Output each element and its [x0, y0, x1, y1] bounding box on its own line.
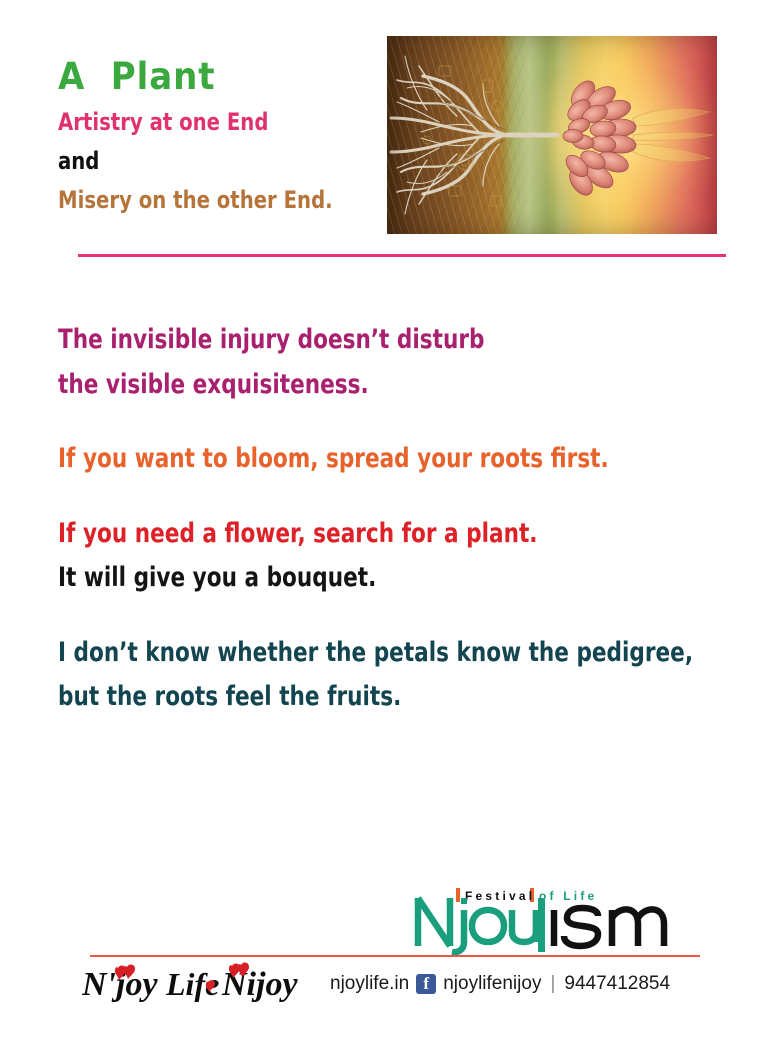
- logo-bar-left: [456, 888, 460, 902]
- poem-stanza: If you want to bloom, spread your roots …: [58, 437, 738, 482]
- subtitle-artistry: Artistry at one End: [58, 103, 320, 142]
- njoy-life-nijoy-script-logo: N'joy Life Nijoy: [82, 962, 317, 1006]
- poem-stanza: I don’t know whether the petals know the…: [58, 631, 738, 720]
- header-divider: [78, 254, 726, 257]
- poem-line: If you want to bloom, spread your roots …: [58, 437, 602, 482]
- poem-stanza: If you need a flower, search for a plant…: [58, 512, 738, 601]
- poem-line: The invisible injury doesn’t disturb: [58, 318, 602, 363]
- facebook-handle[interactable]: njoylifenijoy: [443, 973, 541, 995]
- logo-stem: [538, 898, 545, 952]
- njoyism-logo: Festival of Life: [412, 884, 682, 956]
- poem-body: The invisible injury doesn’t disturb the…: [58, 318, 738, 720]
- artwork-lotus-roots-painting: [387, 36, 717, 234]
- logo-festival-text: Festival: [465, 889, 535, 903]
- poem-line: It will give you a bouquet.: [58, 556, 602, 601]
- poem-stanza: The invisible injury doesn’t disturb the…: [58, 318, 738, 407]
- poem-line: but the roots feel the fruits.: [58, 675, 602, 720]
- contact-separator: |: [548, 973, 557, 995]
- phone-number[interactable]: 9447412854: [564, 973, 670, 995]
- page-title: A Plant: [58, 58, 352, 97]
- logo-j-dot: [461, 898, 467, 904]
- subtitle-and: and: [58, 142, 320, 181]
- poem-line: the visible exquisiteness.: [58, 363, 602, 408]
- facebook-icon[interactable]: [416, 974, 436, 994]
- poem-line: I don’t know whether the petals know the…: [58, 631, 602, 676]
- header-block: A Plant Artistry at one End and Misery o…: [58, 58, 378, 219]
- logo-of-life-text: of Life: [539, 889, 597, 903]
- poem-line: If you need a flower, search for a plant…: [58, 512, 602, 557]
- poster-page: A Plant Artistry at one End and Misery o…: [0, 0, 768, 1063]
- footer-divider: [90, 955, 700, 957]
- artwork-vignette: [387, 36, 717, 234]
- website-link[interactable]: njoylife.in: [330, 973, 409, 995]
- footer-contact-row: njoylife.in njoylifenijoy | 9447412854: [330, 971, 670, 997]
- subtitle-misery: Misery on the other End.: [58, 181, 320, 220]
